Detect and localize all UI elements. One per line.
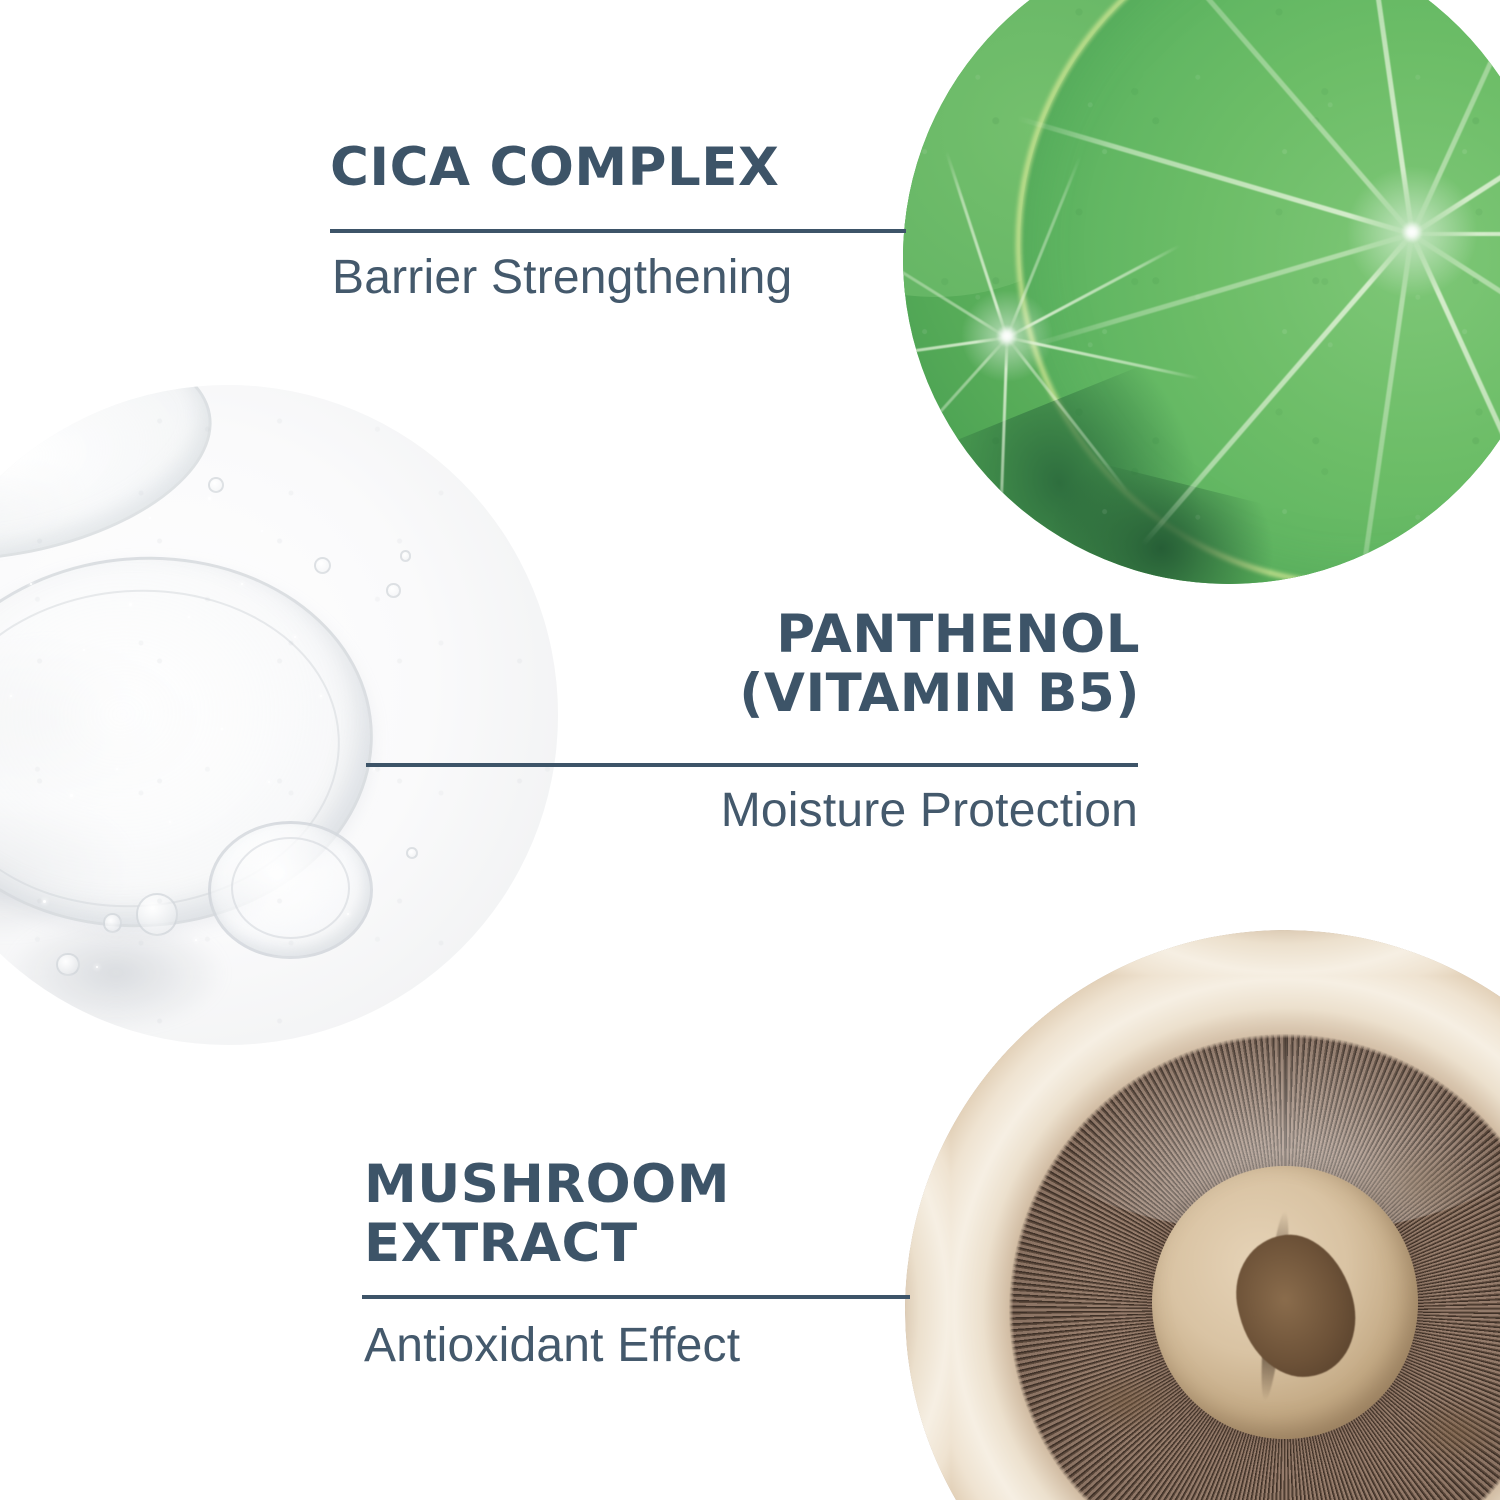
ingredient-title-cica-complex: CICA COMPLEX (330, 138, 910, 197)
gel-sparkle-16 (268, 781, 270, 783)
mushroom-gills-photo (905, 930, 1500, 1500)
gel-sparkle-3 (83, 649, 85, 651)
leaf-artwork (903, 0, 1500, 584)
gel-sparkle-9 (294, 636, 296, 638)
gel-sparkle-2 (30, 583, 32, 585)
nasturtium-leaf-photo (903, 0, 1500, 584)
gel-sparkle-10 (70, 794, 73, 797)
gel-sparkle-24 (347, 913, 349, 915)
ingredient-benefit-mushroom-extract: Antioxidant Effect (364, 1320, 964, 1373)
gel-sparkle-14 (43, 900, 46, 903)
ingredient-benefit-cica-complex: Barrier Strengthening (332, 252, 932, 305)
ingredient-block-mushroom-extract: MUSHROOM EXTRACT (364, 1155, 924, 1274)
divider-rule-mushroom-extract (362, 1295, 910, 1299)
divider-rule-panthenol (366, 763, 1138, 767)
gel-sparkle-11 (116, 768, 118, 770)
divider-rule-cica-complex (330, 229, 906, 233)
mushroom-cap (905, 930, 1500, 1500)
gel-sparkle-18 (149, 517, 151, 519)
gel-sparkle-12 (169, 821, 171, 823)
infographic-canvas: CICA COMPLEX Barrier Strengthening PANTH… (0, 0, 1500, 1500)
ingredient-block-cica-complex: CICA COMPLEX (330, 138, 910, 197)
gel-sparkle-4 (129, 603, 132, 606)
ingredient-benefit-panthenol: Moisture Protection (538, 785, 1138, 838)
leaf-vein-1-1 (1412, 232, 1500, 237)
leaf-vein-node-1 (1401, 221, 1423, 243)
clear-gel-texture-photo (0, 385, 558, 1045)
ingredient-block-panthenol: PANTHENOL (VITAMIN B5) (560, 605, 1140, 724)
ingredient-title-panthenol: PANTHENOL (VITAMIN B5) (560, 605, 1140, 724)
gel-grain-texture (0, 385, 558, 1045)
ingredient-title-mushroom-extract: MUSHROOM EXTRACT (364, 1155, 924, 1274)
gel-sparkle-21 (96, 966, 98, 968)
